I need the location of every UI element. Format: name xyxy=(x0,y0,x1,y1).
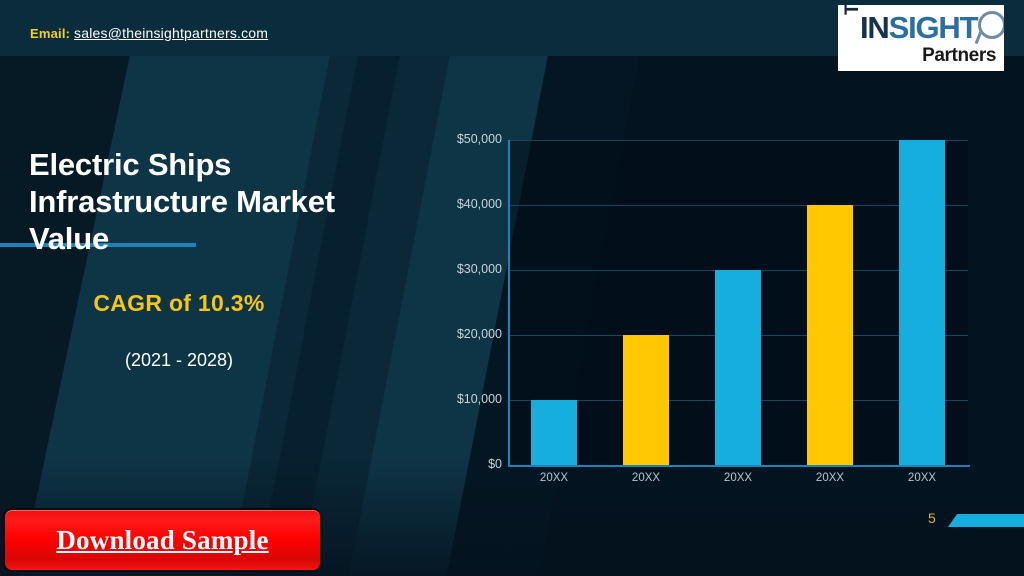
company-logo: The INSIGHT Partners xyxy=(838,5,1004,71)
logo-in-part: IN xyxy=(860,10,889,45)
contact-email-line: Email: sales@theinsightpartners.com xyxy=(30,25,268,41)
cagr-value: CAGR of 10.3% xyxy=(29,290,329,317)
page-number: 5 xyxy=(928,510,936,526)
forecast-period: (2021 - 2028) xyxy=(29,350,329,371)
x-axis-tick-label: 20XX xyxy=(600,472,692,484)
magnifying-glass-icon xyxy=(978,11,1004,39)
y-axis-tick-label: $0 xyxy=(432,457,502,471)
y-axis-tick-label: $40,000 xyxy=(432,197,502,211)
email-label: Email: xyxy=(30,26,70,41)
chart-bar xyxy=(623,335,669,465)
x-axis-line xyxy=(508,465,970,467)
logo-sight-part: SIGHT xyxy=(889,10,978,45)
y-axis-tick-label: $30,000 xyxy=(432,262,502,276)
x-axis-tick-label: 20XX xyxy=(692,472,784,484)
y-axis-tick-label: $50,000 xyxy=(432,132,502,146)
page-title: Electric Ships Infrastructure Market Val… xyxy=(29,146,359,257)
slide-canvas: Email: sales@theinsightpartners.com The … xyxy=(0,0,1024,576)
chart-bar xyxy=(807,205,853,465)
logo-partners-text: Partners xyxy=(922,45,996,67)
page-accent-arrow xyxy=(948,514,1024,527)
x-axis-labels: 20XX20XX20XX20XX20XX xyxy=(508,472,968,492)
x-axis-tick-label: 20XX xyxy=(876,472,968,484)
chart-bars xyxy=(508,140,968,465)
email-address-link[interactable]: sales@theinsightpartners.com xyxy=(74,25,268,41)
chart-bar xyxy=(899,140,945,465)
download-sample-button[interactable]: Download Sample xyxy=(3,508,322,572)
x-axis-tick-label: 20XX xyxy=(508,472,600,484)
download-sample-label: Download Sample xyxy=(56,525,268,556)
chart-bar xyxy=(715,270,761,465)
logo-insight-text: INSIGHT xyxy=(860,11,977,45)
x-axis-tick-label: 20XX xyxy=(784,472,876,484)
y-axis-tick-label: $20,000 xyxy=(432,327,502,341)
chart-bar xyxy=(531,400,577,465)
market-value-bar-chart: $0$10,000$20,000$30,000$40,000$50,000 20… xyxy=(430,130,990,490)
y-axis-tick-label: $10,000 xyxy=(432,392,502,406)
y-axis-ticks: $0$10,000$20,000$30,000$40,000$50,000 xyxy=(430,130,502,476)
